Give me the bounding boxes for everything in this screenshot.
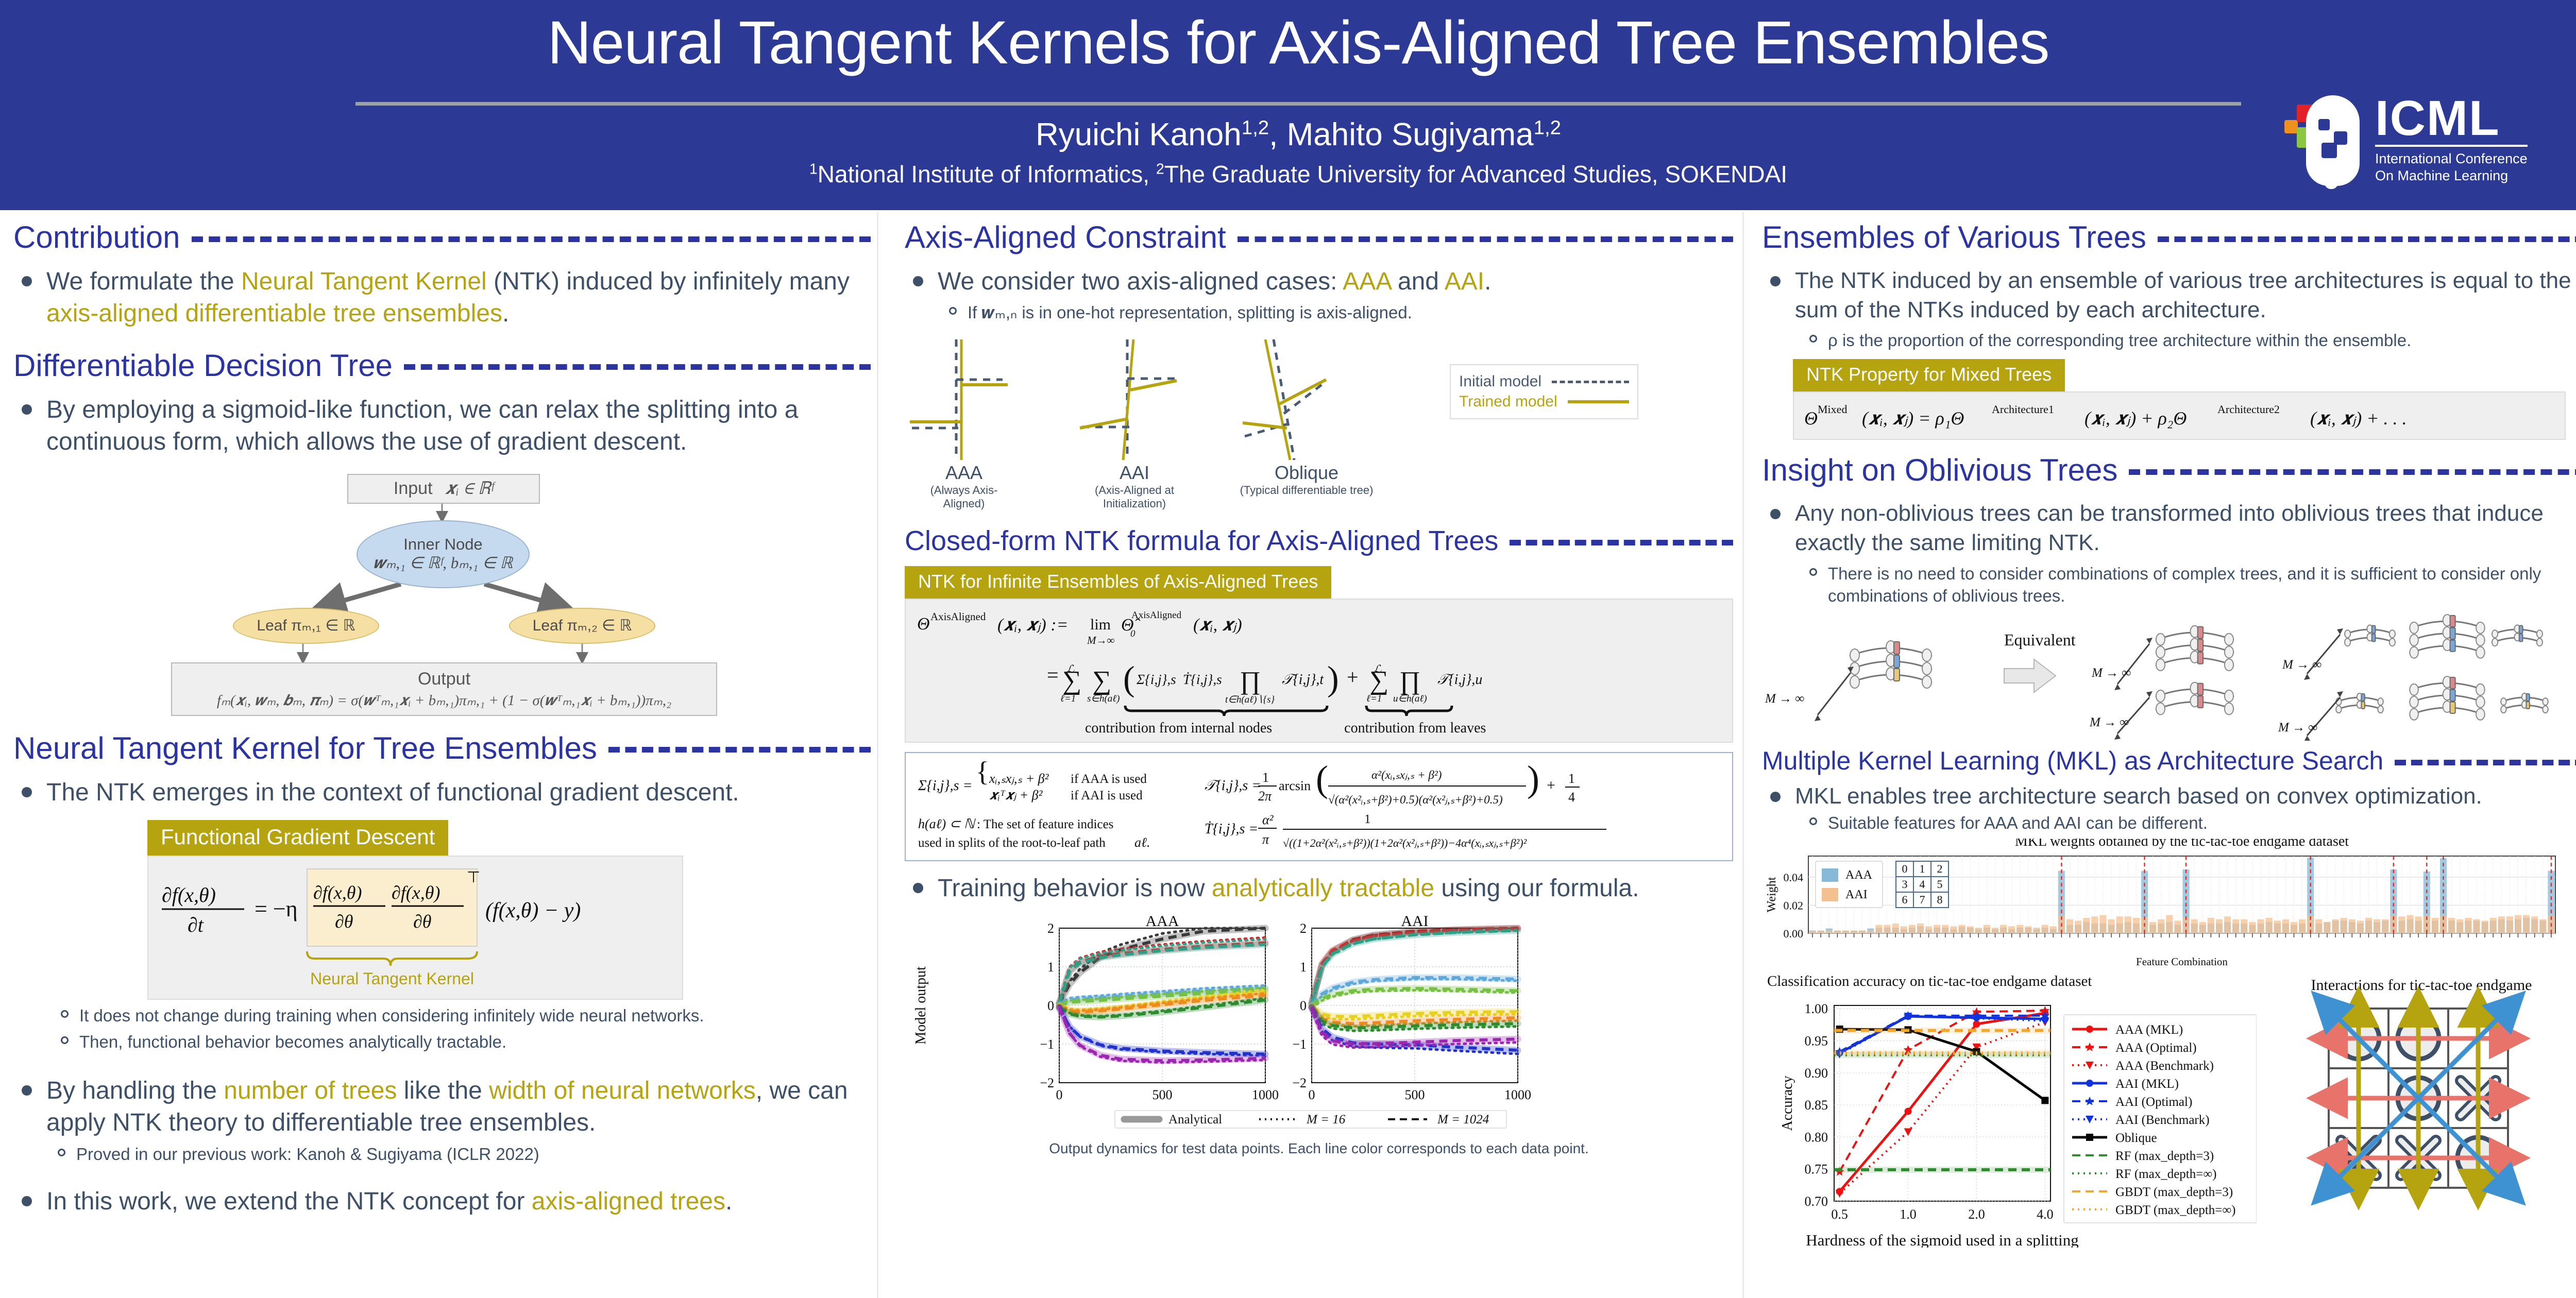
- svg-text:𝒯{i,j},u: 𝒯{i,j},u: [1437, 672, 1482, 688]
- affil-1-sup: 1: [809, 161, 818, 178]
- svg-text:AAI: AAI: [1845, 888, 1868, 901]
- text-part: In this work, we extend the NTK concept …: [46, 1188, 532, 1215]
- svg-text:500: 500: [1153, 1087, 1173, 1102]
- mkl-weights-chart: MKL weights obtained by the tic-tac-toe …: [1762, 839, 2576, 967]
- svg-text:π: π: [1262, 832, 1269, 847]
- axis-aligned-bullets: We consider two axis-aligned cases: AAA …: [905, 266, 1733, 324]
- legend-swatch-dashed: [1552, 381, 1629, 383]
- fig-label-sub: (Axis-Aligned at Initialization): [1067, 484, 1201, 510]
- icml-name: ICML: [2375, 95, 2528, 142]
- svg-text:0: 0: [1300, 998, 1307, 1013]
- svg-text:Analytical: Analytical: [1168, 1113, 1222, 1126]
- svg-text:−1: −1: [1292, 1037, 1307, 1052]
- highlight-ntk: Neural Tangent Kernel: [241, 268, 487, 295]
- tree-output-math: fₘ(𝒙ᵢ, 𝒘ₘ, 𝒃ₘ, 𝝅ₘ) = σ(𝒘ᵀₘ,₁𝒙ᵢ + bₘ,₁)πₘ…: [217, 691, 671, 709]
- section-dash-rule: [2129, 469, 2576, 475]
- tictactoe-figure: Interactions for tic-tac-toe endgame: [2262, 969, 2576, 1248]
- svg-text:∑: ∑: [1092, 666, 1111, 695]
- svg-text:√(α²(x²ᵢ,ₛ+β²)+0.5)(α²(x²ⱼ,ₛ+β: √(α²(x²ᵢ,ₛ+β²)+0.5)(α²(x²ⱼ,ₛ+β²)+0.5): [1328, 793, 1503, 806]
- svg-text:M → ∞: M → ∞: [2282, 658, 2321, 672]
- mkl-subbullets: Suitable features for AAA and AAI can be…: [1798, 812, 2576, 834]
- svg-text:0: 0: [1130, 628, 1136, 639]
- ntk-definitions-box: Σ{i,j},s = { xᵢ,ₛxⱼ,ₛ + β² 𝒙ᵢᵀ𝒙ⱼ + β² if…: [905, 752, 1733, 861]
- dynamics-svg: AAA05001000−2−1012τ (iteration)Model out…: [905, 916, 1708, 1137]
- svg-text:arcsin: arcsin: [1279, 778, 1311, 793]
- legend-row-initial: Initial model: [1459, 373, 1629, 390]
- list-item: In this work, we extend the NTK concept …: [13, 1186, 871, 1218]
- svg-text:Θ: Θ: [917, 614, 930, 634]
- text-part: and: [1391, 268, 1445, 295]
- section-heading-contribution: Contribution: [13, 220, 871, 254]
- tree-leaf-left: Leaf πₘ,₁ ∈ ℝ: [233, 608, 379, 644]
- svg-text:Classification accuracy on tic: Classification accuracy on tic-tac-toe e…: [1767, 973, 2092, 989]
- svg-text:1: 1: [1920, 862, 1925, 875]
- svg-text:2π: 2π: [1258, 789, 1272, 804]
- svg-text:used in splits of the root-to-: used in splits of the root-to-leaf path: [918, 836, 1106, 850]
- svg-text:M → ∞: M → ∞: [2278, 721, 2317, 735]
- legend-label-trained: Trained model: [1459, 393, 1557, 411]
- equivalent-label: Equivalent: [2004, 630, 2076, 650]
- svg-text:∑: ∑: [1369, 666, 1388, 695]
- brace-label-leaves: contribution from leaves: [1344, 720, 1486, 737]
- svg-text:s∈h(aℓ): s∈h(aℓ): [1087, 693, 1120, 704]
- highlight-aaa: AAA: [1343, 268, 1391, 295]
- svg-text:4: 4: [1920, 878, 1925, 891]
- accuracy-svg: Classification accuracy on tic-tac-toe e…: [1762, 969, 2257, 1248]
- highlight-num-trees: number of trees: [224, 1077, 397, 1104]
- ntk-bullets-2: By handling the number of trees like the…: [13, 1075, 871, 1166]
- svg-text:α²(xᵢ,ₛxⱼ,ₛ + β²): α²(xᵢ,ₛxⱼ,ₛ + β²): [1371, 768, 1442, 781]
- svg-text:4: 4: [1568, 790, 1575, 805]
- mixed-box-title: NTK Property for Mixed Trees: [1793, 359, 2065, 391]
- svg-text:2: 2: [1300, 921, 1307, 936]
- svg-text:5: 5: [1937, 878, 1943, 891]
- various-trees-bullets: The NTK induced by an ensemble of variou…: [1762, 266, 2576, 324]
- list-item: By handling the number of trees like the…: [13, 1075, 871, 1166]
- tree-input-label: Input: [394, 479, 433, 499]
- ntk-box-title: NTK for Infinite Ensembles of Axis-Align…: [905, 566, 1331, 599]
- logo-node-3: [2321, 143, 2337, 158]
- svg-text:1: 1: [1047, 960, 1054, 975]
- section-heading-mkl: Multiple Kernel Learning (MKL) as Archit…: [1762, 747, 2576, 775]
- svg-text:0.80: 0.80: [1805, 1130, 1828, 1145]
- svg-text:Weight: Weight: [1765, 877, 1778, 912]
- icml-wordmark: ICML International Conference On Machine…: [2375, 95, 2528, 184]
- constraint-legend: Initial model Trained model: [1450, 364, 1638, 419]
- diff-tree-bullets: By employing a sigmoid-like function, we…: [13, 394, 871, 458]
- svg-text:∏: ∏: [1399, 666, 1420, 695]
- author-1-sup: 1,2: [1242, 116, 1269, 139]
- svg-text:∂f(x,θ): ∂f(x,θ): [162, 883, 216, 907]
- section-title: Multiple Kernel Learning (MKL) as Archit…: [1762, 747, 2383, 775]
- svg-text:Σ{i,j},s =: Σ{i,j},s =: [918, 778, 972, 794]
- svg-text:Interactions for tic-tac-toe e: Interactions for tic-tac-toe endgame: [2311, 977, 2532, 994]
- svg-text:(: (: [1123, 659, 1135, 698]
- svg-text:{: {: [976, 760, 989, 787]
- svg-text:(f(x,θ) − y): (f(x,θ) − y): [485, 899, 581, 923]
- section-dash-rule: [1510, 540, 1733, 545]
- fig-label-oblique: Oblique (Typical differentiable tree): [1229, 462, 1384, 497]
- tictactoe-svg: Interactions for tic-tac-toe endgame: [2262, 969, 2576, 1248]
- oblivious-equivalence-figure: M → ∞M → ∞M → ∞M → ∞M → ∞ Equivalent: [1762, 612, 2576, 741]
- svg-text:AAI (Optimal): AAI (Optimal): [2115, 1095, 2192, 1109]
- author-1: Ryuichi Kanoh: [1036, 117, 1242, 152]
- svg-text:0: 0: [1309, 1087, 1315, 1102]
- tree-input-box: Input 𝒙ᵢ ∈ ℝᶠ: [347, 474, 540, 504]
- svg-text:AxisAligned: AxisAligned: [930, 610, 986, 623]
- svg-text:6: 6: [1902, 893, 1908, 906]
- svg-text:M → ∞: M → ∞: [1765, 692, 1804, 706]
- svg-text:Architecture1: Architecture1: [1992, 403, 2054, 416]
- section-heading-oblivious: Insight on Oblivious Trees: [1762, 453, 2576, 487]
- svg-text:M → ∞: M → ∞: [2091, 666, 2131, 680]
- svg-text:): ): [1527, 760, 1539, 799]
- mkl-bullets: MKL enables tree architecture search bas…: [1762, 781, 2576, 811]
- fig-label-aai: AAI (Axis-Aligned at Initialization): [1067, 462, 1201, 510]
- svg-text:ℓ=1: ℓ=1: [1366, 693, 1382, 704]
- svg-text:0.75: 0.75: [1805, 1162, 1828, 1176]
- svg-text:−1: −1: [1040, 1037, 1054, 1052]
- various-trees-subbullets: ρ is the proportion of the corresponding…: [1798, 330, 2576, 352]
- section-title: Closed-form NTK formula for Axis-Aligned…: [905, 526, 1498, 556]
- tree-inner-node: Inner Node 𝒘ₘ,₁ ∈ ℝᶠ, bₘ,₁ ∈ ℝ: [357, 520, 530, 588]
- svg-text:(𝒙ᵢ, 𝒙ⱼ) + . . .: (𝒙ᵢ, 𝒙ⱼ) + . . .: [2310, 408, 2407, 429]
- section-title: Axis-Aligned Constraint: [905, 220, 1226, 254]
- svg-text:GBDT (max_depth=∞): GBDT (max_depth=∞): [2115, 1203, 2236, 1217]
- text-part: (NTK) induced by infinitely many: [487, 268, 850, 295]
- svg-text:(𝒙ᵢ, 𝒙ⱼ) + ρ₂Θ: (𝒙ᵢ, 𝒙ⱼ) + ρ₂Θ: [2084, 408, 2187, 429]
- axis-aligned-figure: Initial model Trained model AAA (Always …: [905, 335, 1708, 490]
- poster-root: Neural Tangent Kernels for Axis-Aligned …: [0, 0, 2576, 1298]
- svg-text:1000: 1000: [1504, 1087, 1531, 1102]
- svg-text:3: 3: [1902, 878, 1908, 891]
- section-heading-various-trees: Ensembles of Various Trees: [1762, 220, 2576, 254]
- header-rule: [355, 102, 2241, 106]
- ntk-main-formula: Θ AxisAligned (𝒙ᵢ, 𝒙ⱼ) := lim M→∞ Θ̂ Axi…: [915, 605, 1708, 723]
- svg-text:h(aℓ) ⊂ ℕ: h(aℓ) ⊂ ℕ: [918, 816, 976, 831]
- sigma-case-aai-label: if AAI is used: [1071, 789, 1143, 802]
- icml-tagline-2: On Machine Learning: [2375, 167, 2528, 184]
- svg-text:: The set of feature indices: : The set of feature indices: [977, 817, 1113, 831]
- section-title: Insight on Oblivious Trees: [1762, 453, 2117, 487]
- mixed-ntk-formula: Θ Mixed (𝒙ᵢ, 𝒙ⱼ) = ρ₁Θ Architecture1 (𝒙ᵢ…: [1802, 398, 2549, 434]
- svg-text:AAI (MKL): AAI (MKL): [2115, 1077, 2179, 1091]
- text-part: like the: [397, 1077, 489, 1104]
- fig-label-name: Oblique: [1229, 462, 1384, 484]
- list-item: It does not change during training when …: [49, 1005, 871, 1027]
- svg-text:AAA (Benchmark): AAA (Benchmark): [2115, 1059, 2214, 1073]
- author-2-sup: 1,2: [1534, 116, 1561, 139]
- svg-text:0.95: 0.95: [1805, 1033, 1828, 1048]
- list-item: By employing a sigmoid-like function, we…: [13, 394, 871, 458]
- text-part: Training behavior is now: [938, 875, 1212, 902]
- section-heading-ntk-ensembles: Neural Tangent Kernel for Tree Ensembles: [13, 731, 871, 765]
- svg-text:0.85: 0.85: [1805, 1098, 1828, 1113]
- svg-text:0.5: 0.5: [1831, 1207, 1848, 1222]
- section-dash-rule: [1238, 236, 1733, 242]
- highlight-axis-aligned: axis-aligned differentiable tree ensembl…: [46, 300, 502, 327]
- sigma-case-aaa-label: if AAA is used: [1071, 772, 1147, 786]
- svg-text:u∈h(aℓ): u∈h(aℓ): [1393, 693, 1427, 704]
- list-item: We consider two axis-aligned cases: AAA …: [905, 266, 1733, 324]
- fig-label-sub: (Typical differentiable tree): [1229, 484, 1384, 497]
- section-heading-axis-aligned: Axis-Aligned Constraint: [905, 220, 1733, 254]
- svg-text:1: 1: [1364, 812, 1371, 826]
- svg-text:0.70: 0.70: [1805, 1194, 1828, 1209]
- fig-label-sub: (Always Axis-Aligned): [910, 484, 1018, 510]
- svg-text:M = 1024: M = 1024: [1437, 1113, 1489, 1126]
- list-item: Suitable features for AAA and AAI can be…: [1798, 812, 2576, 834]
- highlight-axis-trees: axis-aligned trees: [532, 1188, 725, 1215]
- svg-text:Architecture2: Architecture2: [2217, 403, 2280, 416]
- svg-text:∂f(x,θ): ∂f(x,θ): [313, 882, 362, 903]
- svg-text:1: 1: [1262, 770, 1269, 785]
- tree-inner-label: Inner Node: [403, 535, 482, 554]
- icml-underline: [2375, 145, 2528, 147]
- svg-text:(𝒙ᵢ, 𝒙ⱼ) = ρ₁Θ: (𝒙ᵢ, 𝒙ⱼ) = ρ₁Θ: [1862, 408, 1964, 429]
- svg-text:0.02: 0.02: [1784, 899, 1804, 912]
- text-part: .: [502, 300, 509, 327]
- ntk-box-body: Θ AxisAligned (𝒙ᵢ, 𝒙ⱼ) := lim M→∞ Θ̂ Axi…: [905, 599, 1733, 743]
- section-dash-rule: [2395, 760, 2576, 765]
- svg-text:2: 2: [1937, 862, 1943, 875]
- tree-inner-math: 𝒘ₘ,₁ ∈ ℝᶠ, bₘ,₁ ∈ ℝ: [374, 554, 513, 573]
- text-part: We consider two axis-aligned cases:: [938, 268, 1343, 295]
- svg-text:RF (max_depth=∞): RF (max_depth=∞): [2115, 1167, 2216, 1181]
- highlight-aai: AAI: [1445, 268, 1484, 295]
- list-item: Training behavior is now analytically tr…: [905, 873, 1733, 904]
- section-title: Differentiable Decision Tree: [13, 349, 393, 383]
- svg-text:∂t: ∂t: [188, 913, 204, 936]
- section-dash-rule: [192, 236, 871, 242]
- svg-text:(𝒙ᵢ, 𝒙ⱼ): (𝒙ᵢ, 𝒙ⱼ): [1193, 616, 1242, 635]
- text-part: We formulate the: [46, 268, 241, 295]
- section-dash-rule: [2158, 236, 2576, 242]
- svg-text:8: 8: [1937, 893, 1943, 906]
- tractable-bullets: Training behavior is now analytically tr…: [905, 873, 1733, 904]
- svg-text:M = 16: M = 16: [1306, 1113, 1346, 1126]
- svg-text:M→∞: M→∞: [1087, 634, 1114, 646]
- svg-text:aℓ.: aℓ.: [1134, 835, 1150, 850]
- svg-text:+: +: [1547, 777, 1555, 794]
- icml-logo: ICML International Conference On Machine…: [2284, 92, 2573, 187]
- legend-label-initial: Initial model: [1459, 373, 1541, 390]
- mkl-svg: MKL weights obtained by the tic-tac-toe …: [1762, 839, 2576, 967]
- mixed-box-body: Θ Mixed (𝒙ᵢ, 𝒙ⱼ) = ρ₁Θ Architecture1 (𝒙ᵢ…: [1793, 391, 2566, 440]
- legend-swatch-solid: [1568, 400, 1629, 403]
- column-right: Ensembles of Various Trees The NTK induc…: [1762, 220, 2576, 1298]
- affiliation-line: 1National Institute of Informatics, 2The…: [0, 161, 2576, 188]
- tree-output-box: Output fₘ(𝒙ᵢ, 𝒘ₘ, 𝒃ₘ, 𝝅ₘ) = σ(𝒘ᵀₘ,₁𝒙ᵢ + …: [171, 662, 717, 716]
- fgd-box-title: Functional Gradient Descent: [147, 820, 448, 856]
- affil-2: The Graduate University for Advanced Stu…: [1164, 161, 1787, 187]
- highlight-width-nn: width of neural networks: [489, 1077, 756, 1104]
- svg-text:Feature Combination: Feature Combination: [2136, 955, 2228, 967]
- fig-label-name: AAA: [910, 462, 1018, 484]
- svg-text:lim: lim: [1090, 616, 1111, 633]
- text-part: .: [725, 1188, 732, 1215]
- mixed-ntk-box: NTK Property for Mixed Trees Θ Mixed (𝒙ᵢ…: [1793, 359, 2566, 440]
- fig-label-name: AAI: [1067, 462, 1201, 484]
- svg-text:0: 0: [1047, 998, 1054, 1013]
- icml-tagline-1: International Conference: [2375, 150, 2528, 167]
- ntk-definitions: Σ{i,j},s = { xᵢ,ₛxⱼ,ₛ + β² 𝒙ᵢᵀ𝒙ⱼ + β² if…: [916, 760, 1699, 853]
- svg-text:(𝒙ᵢ, 𝒙ⱼ) :=: (𝒙ᵢ, 𝒙ⱼ) :=: [997, 616, 1068, 635]
- svg-text:AAA: AAA: [1146, 916, 1179, 930]
- svg-text:Accuracy: Accuracy: [1780, 1075, 1795, 1131]
- list-item: There is no need to consider combination…: [1798, 563, 2576, 607]
- oblivious-svg: M → ∞M → ∞M → ∞M → ∞M → ∞: [1762, 612, 2576, 741]
- svg-text:+: +: [1347, 665, 1359, 689]
- text-part: .: [1484, 268, 1491, 295]
- section-dash-rule: [404, 364, 871, 370]
- svg-text:0: 0: [1902, 862, 1908, 875]
- text-part: using our formula.: [1434, 875, 1639, 902]
- oblivious-bullets: Any non-oblivious trees can be transform…: [1762, 499, 2576, 557]
- svg-text:−2: −2: [1292, 1075, 1307, 1090]
- column-left: Contribution We formulate the Neural Tan…: [13, 220, 871, 1298]
- svg-text:⊤: ⊤: [467, 869, 480, 886]
- svg-text:√((1+2α²(x²ᵢ,ₛ+β²))(1+2α²(x²ⱼ,: √((1+2α²(x²ᵢ,ₛ+β²))(1+2α²(x²ⱼ,ₛ+β²))−4α⁴…: [1283, 836, 1527, 849]
- svg-text:Ṫ{i,j},s: Ṫ{i,j},s: [1183, 672, 1222, 687]
- ntk-brace-label: Neural Tangent Kernel: [310, 969, 474, 988]
- section-title: Neural Tangent Kernel for Tree Ensembles: [13, 731, 597, 765]
- svg-text:1.0: 1.0: [1900, 1207, 1917, 1222]
- svg-text:Oblique: Oblique: [2115, 1131, 2157, 1145]
- section-heading-diff-tree: Differentiable Decision Tree: [13, 349, 871, 383]
- section-title: Contribution: [13, 220, 180, 254]
- svg-text:Hardness of the sigmoid used i: Hardness of the sigmoid used in a splitt…: [1806, 1231, 2079, 1248]
- contribution-bullets: We formulate the Neural Tangent Kernel (…: [13, 266, 871, 330]
- fgd-formula: ∂f(x,θ) ∂t = −η ∂f(x,θ) ∂θ ∂f(x,θ) ∂θ ⊤ …: [159, 865, 670, 994]
- list-item: We formulate the Neural Tangent Kernel (…: [13, 266, 871, 330]
- column-middle: Axis-Aligned Constraint We consider two …: [905, 220, 1733, 1298]
- svg-text:xᵢ,ₛxⱼ,ₛ + β²: xᵢ,ₛxⱼ,ₛ + β²: [989, 771, 1049, 786]
- svg-text:= −η: = −η: [255, 896, 298, 921]
- svg-text:t∈h(aℓ)∖{s}: t∈h(aℓ)∖{s}: [1225, 694, 1275, 705]
- list-item: Then, functional behavior becomes analyt…: [49, 1031, 871, 1053]
- section-title: Ensembles of Various Trees: [1762, 220, 2146, 254]
- svg-text:2.0: 2.0: [1968, 1207, 1985, 1222]
- ntk-formula-box: NTK for Infinite Ensembles of Axis-Align…: [905, 566, 1733, 743]
- svg-text:Ṫ{i,j},s =: Ṫ{i,j},s =: [1205, 821, 1258, 837]
- ntk-bullets: The NTK emerges in the context of functi…: [13, 777, 871, 809]
- svg-text:Mixed: Mixed: [1818, 403, 1847, 416]
- svg-text:−2: −2: [1040, 1075, 1054, 1090]
- svg-text:ℓ=1: ℓ=1: [1060, 693, 1076, 704]
- svg-text:=: =: [1047, 663, 1059, 687]
- list-item: The NTK emerges in the context of functi…: [13, 777, 871, 809]
- list-item: The NTK induced by an ensemble of variou…: [1762, 266, 2576, 324]
- poster-header: Neural Tangent Kernels for Axis-Aligned …: [0, 0, 2576, 210]
- ntk-subbullets-1: It does not change during training when …: [49, 1005, 871, 1053]
- axis-aligned-subbullets: If 𝒘ₘ,ₙ is in one-hot representation, sp…: [938, 302, 1733, 324]
- section-heading-closed-form: Closed-form NTK formula for Axis-Aligned…: [905, 526, 1733, 556]
- text-part: By handling the: [46, 1077, 224, 1104]
- logo-node-1: [2318, 119, 2330, 130]
- logo-square-orange: [2284, 120, 2298, 133]
- svg-text:Model output: Model output: [913, 966, 929, 1045]
- highlight-tractable: analytically tractable: [1212, 875, 1434, 902]
- svg-text:1: 1: [1300, 960, 1307, 975]
- icml-head-icon: [2284, 93, 2362, 186]
- bottom-figures: Classification accuracy on tic-tac-toe e…: [1762, 969, 2576, 1248]
- affil-1: National Institute of Informatics,: [818, 161, 1156, 187]
- svg-text:AAA (Optimal): AAA (Optimal): [2115, 1041, 2197, 1055]
- svg-text:∂θ: ∂θ: [335, 911, 353, 932]
- svg-text:𝒯{i,j},t: 𝒯{i,j},t: [1282, 672, 1324, 688]
- brace-labels: contribution from internal nodes contrib…: [915, 720, 1723, 737]
- svg-text:Σ{i,j},s: Σ{i,j},s: [1136, 672, 1176, 687]
- list-item: Proved in our previous work: Kanoh & Sug…: [46, 1143, 871, 1166]
- tree-input-math: 𝒙ᵢ ∈ ℝᶠ: [445, 479, 494, 499]
- author-2: Mahito Sugiyama: [1287, 117, 1534, 152]
- brace-label-internal: contribution from internal nodes: [1085, 720, 1272, 737]
- svg-text:7: 7: [1920, 893, 1925, 906]
- svg-text:Θ: Θ: [1804, 408, 1818, 429]
- column-divider-1: [877, 212, 878, 1298]
- legend-row-trained: Trained model: [1459, 393, 1629, 411]
- svg-text:0: 0: [1056, 1087, 1063, 1102]
- svg-text:1.00: 1.00: [1805, 1001, 1828, 1016]
- svg-text:M → ∞: M → ∞: [2089, 715, 2129, 729]
- svg-text:(: (: [1316, 760, 1328, 799]
- svg-text:MKL weights obtained by the ti: MKL weights obtained by the tic-tac-toe …: [2015, 839, 2349, 849]
- svg-text:AxisAligned: AxisAligned: [1131, 610, 1182, 621]
- list-item: ρ is the proportion of the corresponding…: [1798, 330, 2576, 352]
- sketch-oblique: [1243, 339, 1326, 460]
- list-item: If 𝒘ₘ,ₙ is in one-hot representation, sp…: [938, 302, 1733, 324]
- tree-leaf-right: Leaf πₘ,₂ ∈ ℝ: [509, 608, 655, 644]
- oblivious-subbullets: There is no need to consider combination…: [1798, 563, 2576, 607]
- svg-text:AAA (MKL): AAA (MKL): [2115, 1023, 2183, 1037]
- svg-text:2: 2: [1047, 921, 1054, 936]
- fgd-box: Functional Gradient Descent ∂f(x,θ) ∂t =…: [147, 820, 683, 1000]
- svg-text:1: 1: [1568, 771, 1575, 786]
- svg-text:∑: ∑: [1062, 666, 1081, 695]
- svg-text:500: 500: [1405, 1087, 1425, 1102]
- page-title: Neural Tangent Kernels for Axis-Aligned …: [0, 11, 2576, 75]
- svg-text:α²: α²: [1262, 812, 1274, 827]
- fig-label-aaa: AAA (Always Axis-Aligned): [910, 462, 1018, 510]
- tree-output-label: Output: [418, 669, 470, 689]
- svg-text:0.04: 0.04: [1784, 870, 1804, 883]
- logo-neck-shape: [2325, 170, 2338, 189]
- sketch-aai: [1080, 339, 1177, 460]
- accuracy-chart: Classification accuracy on tic-tac-toe e…: [1762, 969, 2257, 1248]
- dynamics-caption: Output dynamics for test data points. Ea…: [905, 1140, 1733, 1157]
- svg-text:AAI (Benchmark): AAI (Benchmark): [2115, 1113, 2210, 1127]
- svg-text:0.00: 0.00: [1784, 927, 1804, 940]
- sketch-aaa: [910, 339, 1008, 460]
- affil-2-sup: 2: [1156, 161, 1164, 178]
- svg-text:GBDT (max_depth=3): GBDT (max_depth=3): [2115, 1185, 2233, 1199]
- svg-text:∏: ∏: [1240, 666, 1261, 695]
- svg-text:4.0: 4.0: [2037, 1207, 2054, 1222]
- svg-text:𝒙ᵢᵀ𝒙ⱼ + β²: 𝒙ᵢᵀ𝒙ⱼ + β²: [989, 788, 1043, 802]
- dynamics-charts: AAA05001000−2−1012τ (iteration)Model out…: [905, 916, 1708, 1137]
- svg-text:): ): [1327, 659, 1339, 698]
- svg-text:∂f(x,θ): ∂f(x,θ): [392, 882, 440, 903]
- ntk-bullets-3: In this work, we extend the NTK concept …: [13, 1186, 871, 1218]
- column-divider-2: [1742, 212, 1744, 1298]
- fgd-box-body: ∂f(x,θ) ∂t = −η ∂f(x,θ) ∂θ ∂f(x,θ) ∂θ ⊤ …: [147, 856, 683, 1000]
- list-item: MKL enables tree architecture search bas…: [1762, 781, 2576, 811]
- list-item: Any non-oblivious trees can be transform…: [1762, 499, 2576, 557]
- section-dash-rule: [608, 747, 871, 753]
- author-line: Ryuichi Kanoh1,2, Mahito Sugiyama1,2: [0, 116, 2576, 153]
- svg-text:𝒯{i,j},s =: 𝒯{i,j},s =: [1205, 778, 1261, 794]
